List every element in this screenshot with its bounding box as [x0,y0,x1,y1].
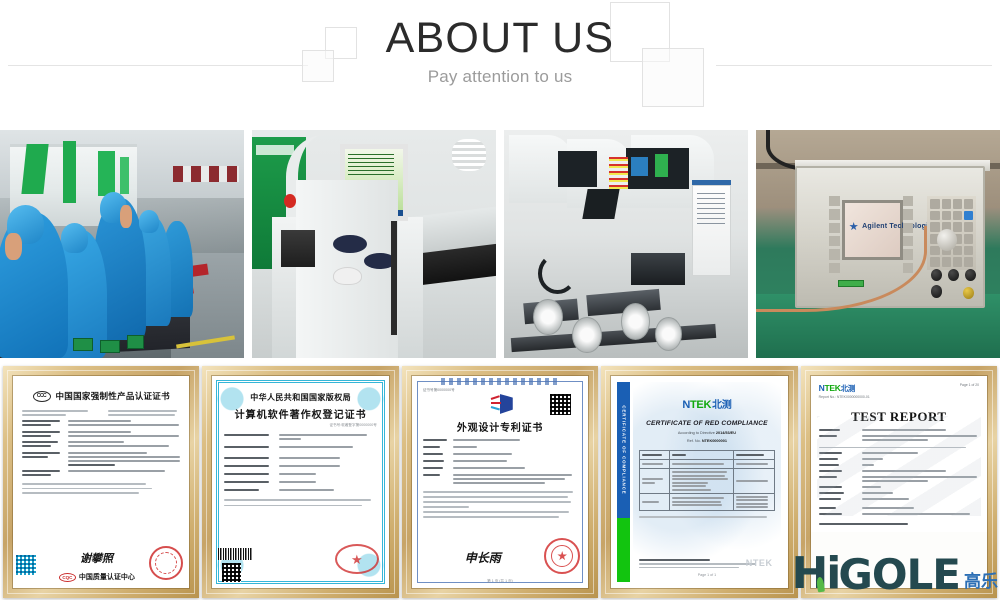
cqc-issuer-label: 中国质量认证中心 [79,572,135,582]
certificate-ntek-red-compliance[interactable]: CERTIFICATE OF COMPLIANCE NTEK北测 CERTIFI… [601,366,797,598]
photo-smt-inspection-machine[interactable] [252,130,496,358]
photo-assembly-line[interactable] [0,130,244,358]
patent-cert-no: 证书号第0000000号 [423,388,577,393]
patent-page-label: 第 1 页 (共 1 页) [412,579,588,584]
ccc-qr-code-icon [15,554,37,576]
test-report-page-label: Page 1 of 20 [960,383,979,387]
compliance-directive-label: According to Directive [678,431,715,435]
higole-logo-cn: 高乐 [964,574,998,591]
copyright-title: 计算机软件著作权登记证书 [224,406,376,421]
photo-pick-and-place-machine[interactable] [504,130,748,358]
ntek-watermark: NTEK [746,558,773,568]
certificate-design-patent[interactable]: 证书号第0000000号 外观设计专利证书 [402,366,598,598]
patent-signature: 申长雨 [465,549,501,566]
compliance-standards-table [639,450,774,511]
compliance-title: CERTIFICATE OF RED COMPLIANCE [639,420,774,427]
copyright-red-seal-icon: ★ [335,544,379,574]
software-copyright-document: 中华人民共和国国家版权局 计算机软件著作权登记证书 证书号:软著登字第00000… [212,376,388,588]
table-header-row [640,451,773,460]
ccc-signature: 谢攀照 [80,550,113,566]
test-report-title: TEST REPORT [819,409,979,425]
certificate-mat: CERTIFICATE OF COMPLIANCE NTEK北测 CERTIFI… [611,376,787,588]
table-row [640,494,773,511]
certificate-mat: 中华人民共和国国家版权局 计算机软件著作权登记证书 证书号:软著登字第00000… [212,376,388,588]
page-title: ABOUT US Pay attention to us [0,16,1000,87]
certificate-software-copyright[interactable]: 中华人民共和国国家版权局 计算机软件著作权登记证书 证书号:软著登字第00000… [202,366,398,598]
copyright-qr-code-icon [222,563,241,582]
compliance-directive-value: 2014/53/EU [716,431,736,435]
cqc-mark-icon: CQC [59,573,76,582]
higole-logo-gole: GOLE [838,554,960,596]
ccc-red-seal-icon [149,546,183,580]
ntek-brand-cn: 北测 [841,384,855,393]
compliance-sidebar: CERTIFICATE OF COMPLIANCE [617,382,630,582]
ntek-brand-cn: 北测 [712,400,731,411]
higole-logo: Hi GOLE 高乐 [791,552,998,596]
ntek-brand-n: N [682,399,690,411]
about-us-page: ABOUT US Pay attention to us [0,0,1000,600]
table-row [640,460,773,469]
page-subtitle-text: Pay attention to us [0,67,1000,87]
certificate-mat: 证书号第0000000号 外观设计专利证书 [412,376,588,588]
compliance-ref-label: Ref. No. [687,439,701,443]
test-report-watermark [817,416,981,516]
ccc-document: CCC 中国国家强制性产品认证证书 [13,376,189,588]
compliance-page-label: Page 1 of 1 [633,573,780,577]
compliance-sidebar-label: CERTIFICATE OF COMPLIANCE [621,405,626,494]
test-report-number: Report No.: NTEK0000000000-01 [819,395,870,399]
certificate-ccc[interactable]: CCC 中国国家强制性产品认证证书 [3,366,199,598]
copyright-issuer-line: 中华人民共和国国家版权局 [224,392,376,403]
patent-qr-code-icon [550,394,571,415]
ntek-brand-logo: NTEK北测 [639,396,774,411]
compliance-ref-value: NTEK0000001 [702,439,727,443]
photo-agilent-test-equipment[interactable]: Agilent Technologies [756,130,1000,358]
page-title-text: ABOUT US [0,16,1000,61]
cnipa-logo-icon [491,394,513,414]
patent-red-seal-icon [544,538,580,574]
page-header: ABOUT US Pay attention to us [0,0,1000,130]
ccc-mark-icon: CCC [33,391,51,402]
table-row [640,469,773,494]
ntek-compliance-document: CERTIFICATE OF COMPLIANCE NTEK北测 CERTIFI… [611,376,787,588]
patent-title: 外观设计专利证书 [423,419,577,434]
ntek-brand-logo: NTEK北测 [819,383,870,394]
ntek-brand-tek: TEK [824,383,840,393]
copyright-cert-no: 证书号:软著登字第0000000号 [224,423,376,428]
certificate-mat: CCC 中国国家强制性产品认证证书 [13,376,189,588]
design-patent-document: 证书号第0000000号 外观设计专利证书 [412,376,588,588]
higole-logo-hi: Hi [791,552,839,596]
ccc-title: 中国国家强制性产品认证证书 [56,390,170,402]
factory-photo-gallery: Agilent Technologies [0,130,1000,358]
ntek-brand-tek: TEK [690,399,711,411]
test-report-document: NTEK北测 Report No.: NTEK0000000000-01 Pag… [811,376,987,532]
copyright-barcode-icon [218,548,252,560]
